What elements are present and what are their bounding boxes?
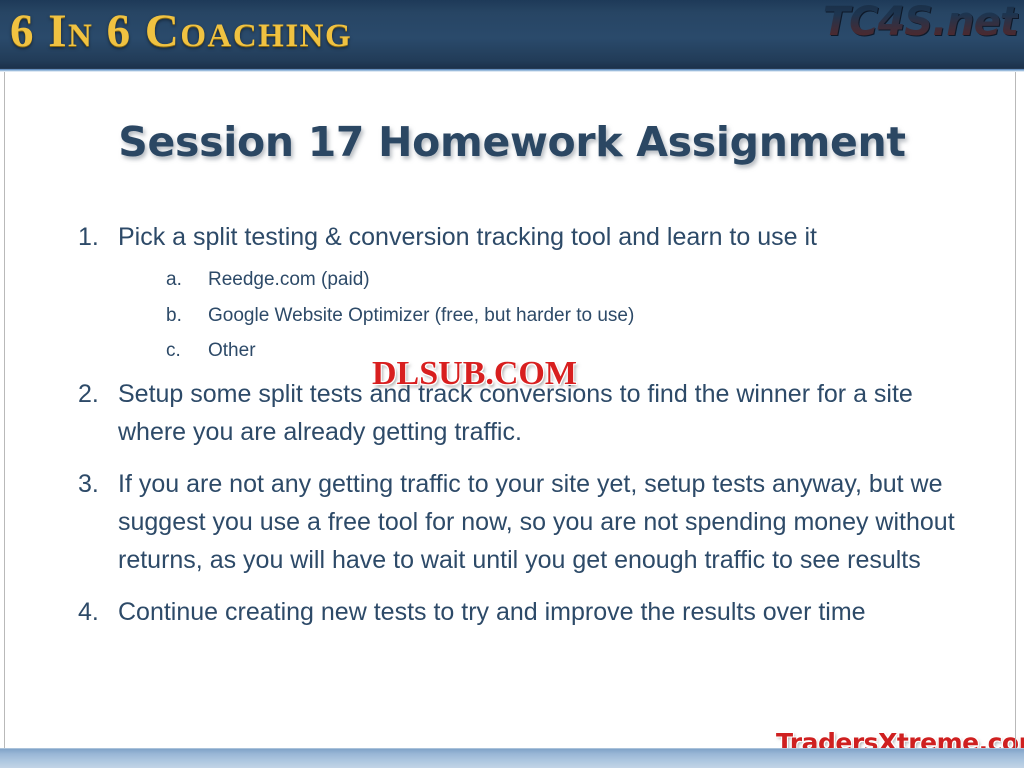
- list-marker: 2.: [74, 375, 118, 413]
- list-marker: 1.: [74, 218, 118, 256]
- list-item-text: Continue creating new tests to try and i…: [118, 593, 974, 631]
- list-item: a. Reedge.com (paid): [166, 266, 974, 294]
- list-item-text: Other: [208, 337, 974, 365]
- header-underline-divider: [0, 69, 1024, 72]
- list-marker: c.: [166, 337, 208, 365]
- list-item: 1. Pick a split testing & conversion tra…: [74, 218, 974, 256]
- list-item: 3. If you are not any getting traffic to…: [74, 465, 974, 579]
- list-item-text: Reedge.com (paid): [208, 266, 974, 294]
- page-title: Session 17 Homework Assignment: [0, 118, 1024, 166]
- site-logo-tc4s: TC4S.net: [823, 2, 1018, 42]
- list-item-text: Google Website Optimizer (free, but hard…: [208, 302, 974, 330]
- list-item-text: Pick a split testing & conversion tracki…: [118, 218, 974, 256]
- list-marker: 3.: [74, 465, 118, 503]
- brand-logo: 6 In 6 Coaching: [10, 8, 352, 55]
- footer-bar: [0, 748, 1024, 768]
- watermark-dlsub: DLSUB.COM: [372, 357, 577, 391]
- list-marker: a.: [166, 266, 208, 294]
- list-item: 4. Continue creating new tests to try an…: [74, 593, 974, 631]
- slide-canvas: 6 In 6 Coaching TC4S.net Session 17 Home…: [0, 0, 1024, 768]
- list-marker: b.: [166, 302, 208, 330]
- list-item: b. Google Website Optimizer (free, but h…: [166, 302, 974, 330]
- list-marker: 4.: [74, 593, 118, 631]
- sub-list: a. Reedge.com (paid) b. Google Website O…: [74, 266, 974, 365]
- homework-list: 1. Pick a split testing & conversion tra…: [74, 218, 974, 635]
- list-item-text: If you are not any getting traffic to yo…: [118, 465, 974, 579]
